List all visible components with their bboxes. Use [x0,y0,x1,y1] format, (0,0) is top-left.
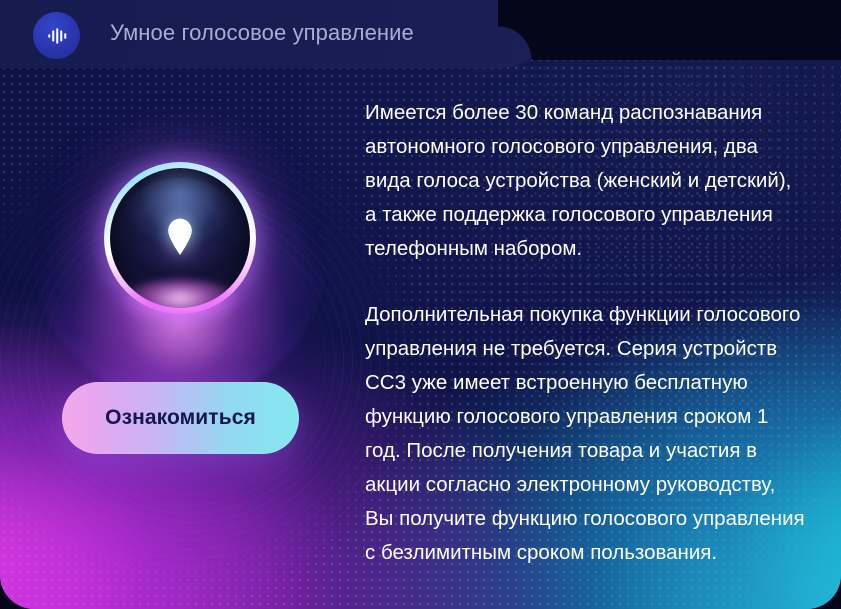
orb-base-glow [118,280,242,326]
paragraph-features: Имеется более 30 команд распознавания ав… [365,96,806,266]
promo-card-stage: Умное голосовое управление Ознакомиться … [0,0,841,609]
learn-more-button[interactable]: Ознакомиться [62,382,299,454]
voice-assistant-pin-icon [165,217,195,255]
sound-wave-icon [33,12,80,59]
promo-card: Умное голосовое управление Ознакомиться … [0,0,841,609]
header-dark-area [498,0,841,60]
page-title: Умное голосовое управление [110,20,414,46]
paragraph-offer: Дополнительная покупка функции голосовог… [365,298,806,570]
description-block: Имеется более 30 команд распознавания ав… [365,96,806,570]
voice-assistant-orb[interactable] [104,162,256,314]
